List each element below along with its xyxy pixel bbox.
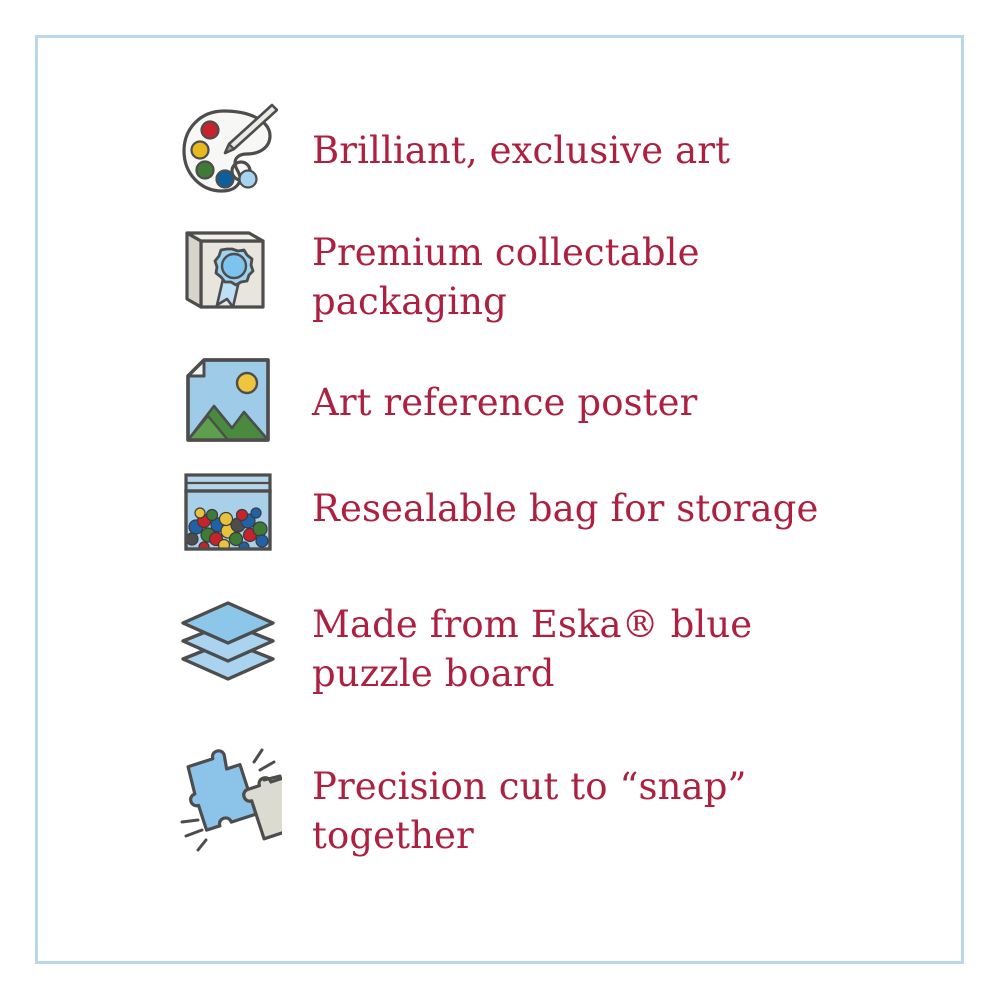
feature-row: Resealable bag for storage (170, 460, 930, 582)
feature-label-line-1: Brilliant, exclusive art (312, 129, 730, 172)
feature-row: Made from Eska® blue puzzle board (170, 582, 930, 734)
feature-label-line-2: packaging (312, 277, 700, 326)
product-feature-infographic: Brilliant, exclusive art (0, 0, 1000, 1000)
feature-label: Made from Eska® blue puzzle board (286, 582, 752, 698)
feature-label-line-1: Precision cut to “snap” (312, 765, 747, 808)
poster-image-icon (170, 348, 286, 452)
feature-row: Precision cut to “snap” together (170, 734, 930, 874)
stacked-board-layers-icon (170, 582, 286, 698)
feature-label: Brilliant, exclusive art (286, 96, 730, 175)
feature-row: Premium collectable packaging (170, 206, 930, 348)
feature-label-line-1: Art reference poster (312, 381, 697, 424)
feature-label-line-1: Premium collectable (312, 231, 700, 274)
feature-label: Resealable bag for storage (286, 460, 818, 533)
feature-label-line-1: Resealable bag for storage (312, 487, 818, 530)
feature-row: Brilliant, exclusive art (170, 96, 930, 206)
feature-label-line-2: together (312, 811, 747, 860)
feature-label: Precision cut to “snap” together (286, 734, 747, 860)
puzzle-pieces-snap-icon (170, 734, 286, 864)
feature-label-line-1: Made from Eska® blue (312, 603, 752, 646)
feature-list: Brilliant, exclusive art (170, 96, 930, 874)
feature-label-line-2: puzzle board (312, 649, 752, 698)
award-box-icon (170, 206, 286, 324)
feature-row: Art reference poster (170, 348, 930, 460)
paint-palette-icon (170, 96, 286, 206)
feature-label: Premium collectable packaging (286, 206, 700, 326)
feature-label: Art reference poster (286, 348, 697, 427)
resealable-bag-icon (170, 460, 286, 564)
